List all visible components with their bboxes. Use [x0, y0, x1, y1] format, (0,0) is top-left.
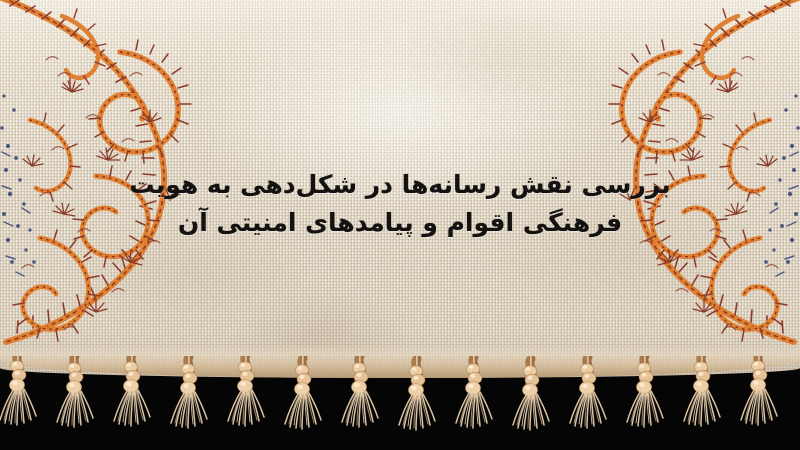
- title-line-2: فرهنگی اقوام و پیامدهای امنیتی آن: [120, 204, 680, 242]
- title-card-canvas: بررسی نقش رسانه‌ها در شکل‌دهی به هویت فر…: [0, 0, 800, 450]
- cloth-hem: [0, 344, 800, 378]
- title-block: بررسی نقش رسانه‌ها در شکل‌دهی به هویت فر…: [120, 166, 680, 242]
- title-line-1: بررسی نقش رسانه‌ها در شکل‌دهی به هویت: [120, 166, 680, 204]
